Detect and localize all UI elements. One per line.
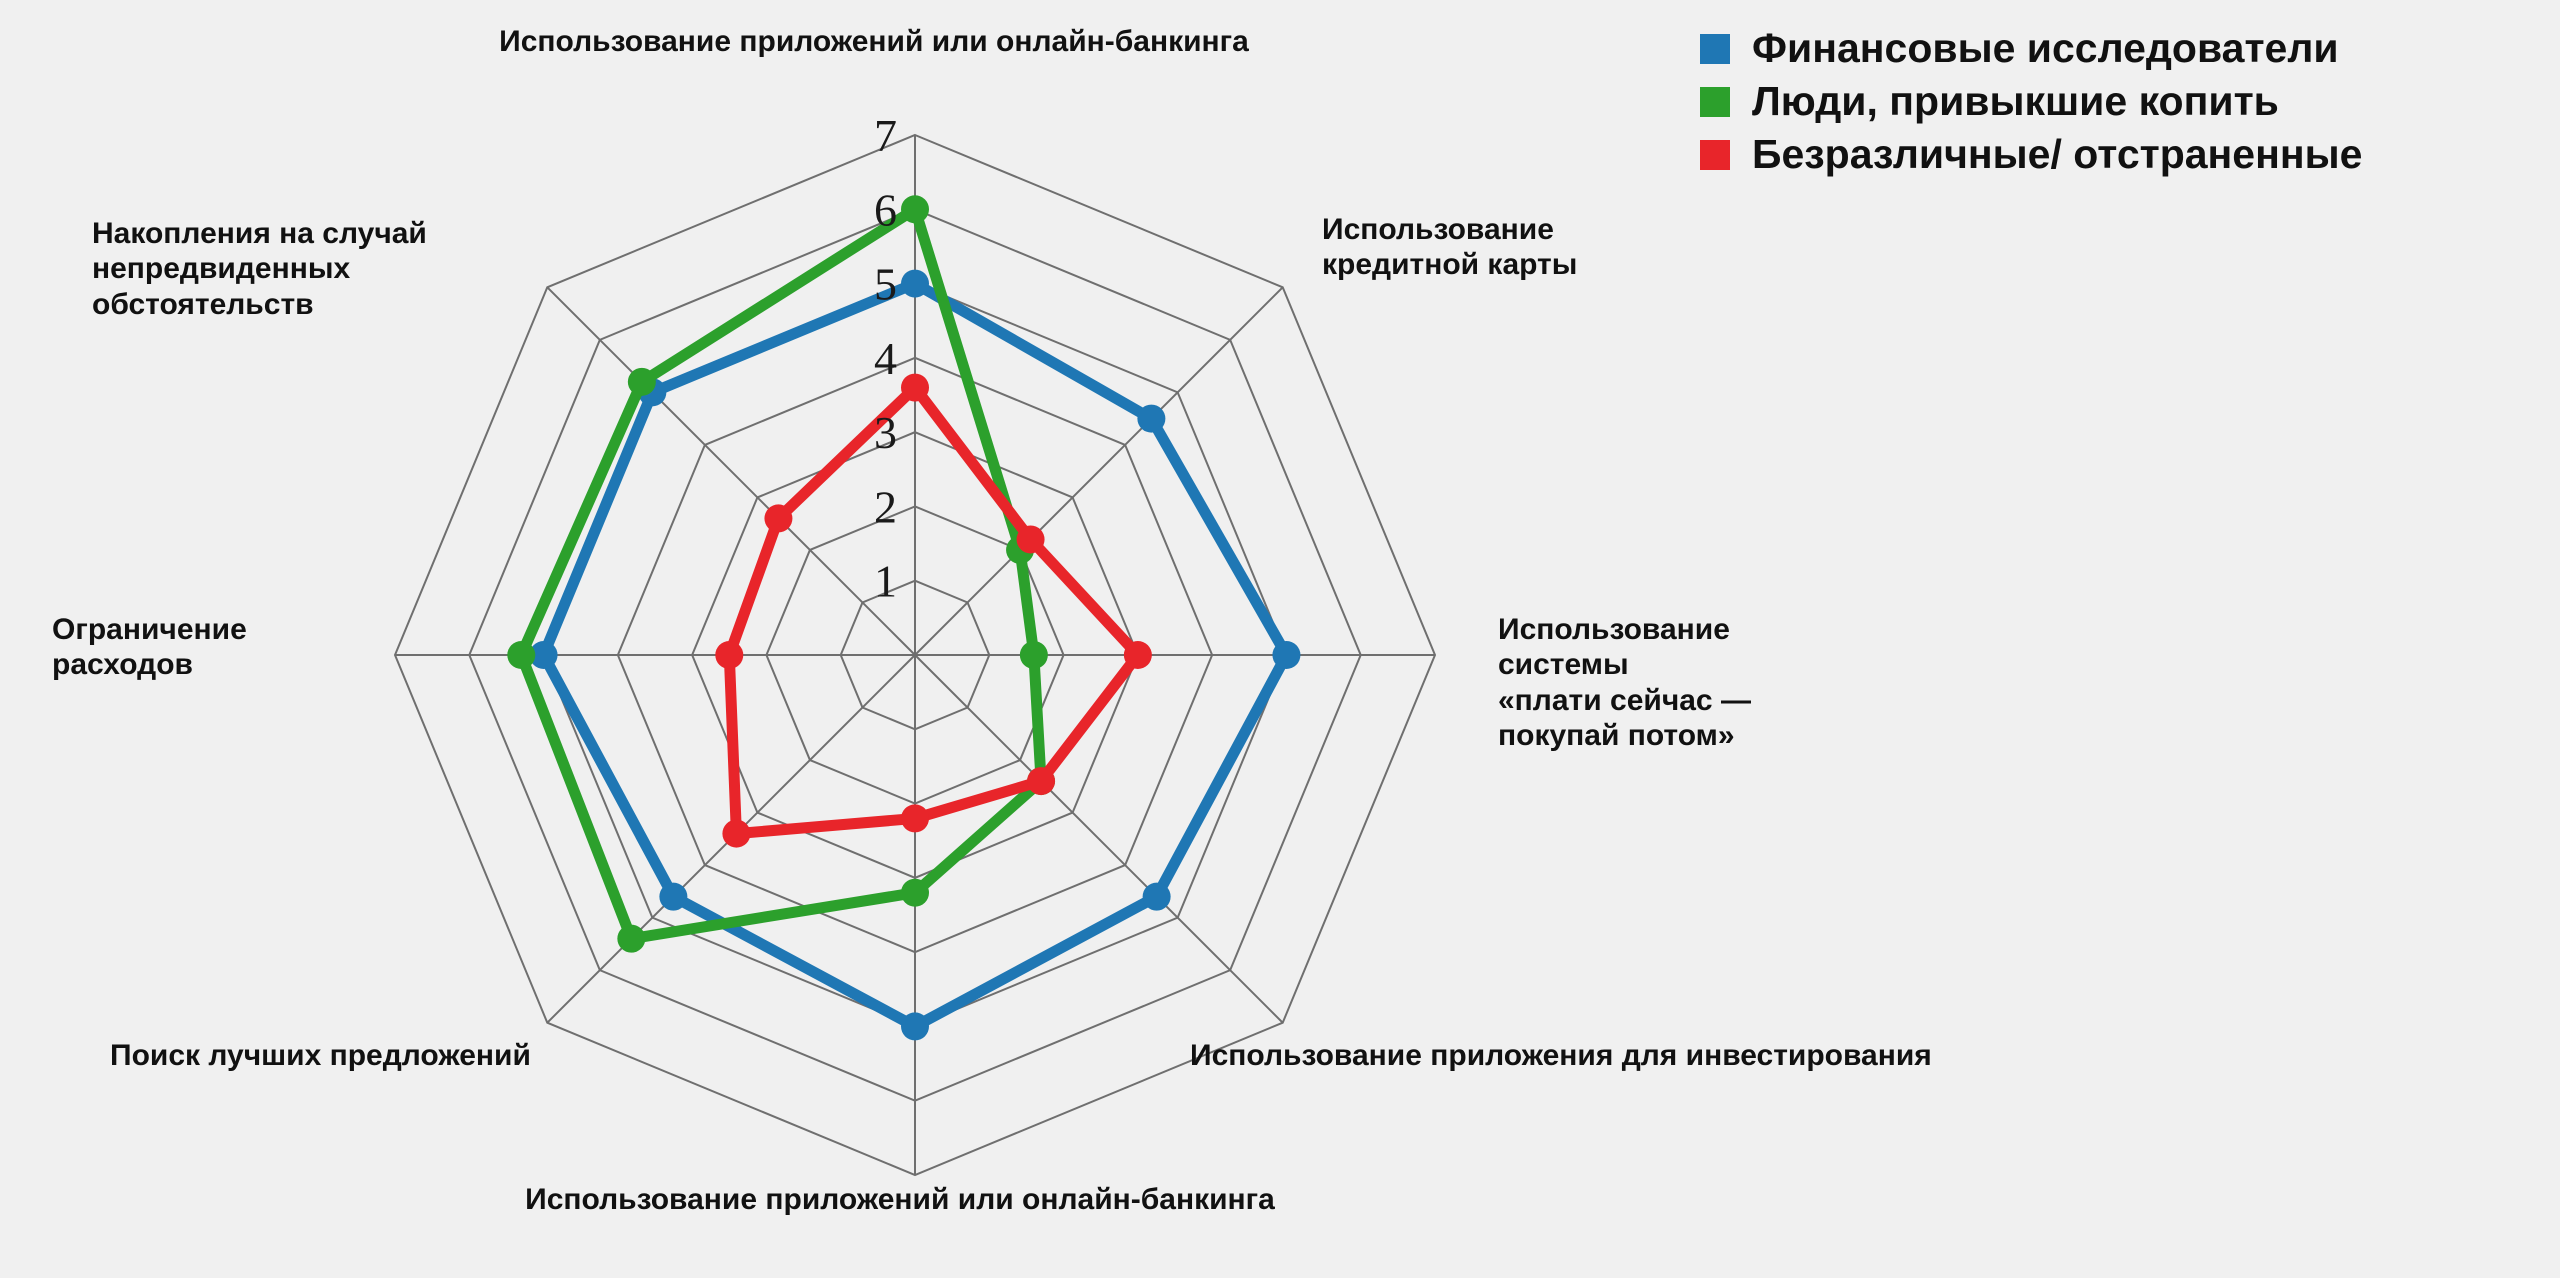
data-point-s1-c7[interactable]	[628, 368, 656, 396]
axis-label-top-right: Использованиекредитной карты	[1322, 212, 1742, 283]
chart-canvas: 1234567 Использование приложений или онл…	[0, 0, 2560, 1278]
radar-series	[507, 195, 1300, 1040]
radial-tick-labels: 1234567	[874, 110, 897, 607]
radial-tick-3: 3	[874, 407, 897, 458]
data-point-s1-c2[interactable]	[1020, 641, 1048, 669]
data-point-s2-c0[interactable]	[901, 374, 929, 402]
data-point-s2-c7[interactable]	[764, 504, 792, 532]
axis-label-bottom-left: Поиск лучших предложений	[110, 1038, 710, 1073]
legend-label-2: Безразличные/ отстраненные	[1752, 134, 2362, 175]
data-point-s2-c4[interactable]	[901, 804, 929, 832]
data-point-s0-c3[interactable]	[1143, 883, 1171, 911]
legend-swatch-red	[1700, 140, 1730, 170]
series-line-2	[729, 388, 1138, 834]
legend-item-1[interactable]: Люди, привыкшие копить	[1700, 75, 2540, 128]
radial-tick-2: 2	[874, 481, 897, 532]
radial-tick-4: 4	[874, 333, 897, 384]
data-point-s1-c5[interactable]	[617, 925, 645, 953]
data-point-s2-c1[interactable]	[1017, 525, 1045, 553]
radial-tick-6: 6	[874, 184, 897, 235]
radial-tick-7: 7	[874, 110, 897, 161]
axis-label-bottom: Использование приложений или онлайн-банк…	[200, 1182, 1600, 1217]
legend-item-2[interactable]: Безразличные/ отстраненные	[1700, 128, 2540, 181]
axis-label-top: Использование приложений или онлайн-банк…	[374, 24, 1374, 59]
data-point-s0-c0[interactable]	[901, 270, 929, 298]
data-point-s0-c1[interactable]	[1137, 405, 1165, 433]
axis-label-bottom-right: Использование приложения для инвестирова…	[1190, 1038, 2170, 1073]
radar-spoke-1	[915, 287, 1283, 655]
legend-label-0: Финансовые исследователи	[1752, 28, 2339, 69]
data-point-s0-c5[interactable]	[659, 883, 687, 911]
legend-swatch-green	[1700, 87, 1730, 117]
radial-tick-1: 1	[874, 556, 897, 607]
legend-label-1: Люди, привыкшие копить	[1752, 81, 2279, 122]
axis-label-right: Использованиесистемы«плати сейчас —покуп…	[1498, 612, 1918, 754]
data-point-s1-c0[interactable]	[901, 195, 929, 223]
data-point-s0-c4[interactable]	[901, 1012, 929, 1040]
data-point-s2-c5[interactable]	[722, 820, 750, 848]
legend-swatch-blue	[1700, 34, 1730, 64]
data-point-s2-c2[interactable]	[1124, 641, 1152, 669]
data-point-s2-c3[interactable]	[1027, 767, 1055, 795]
radar-chart: 1234567	[0, 0, 2560, 1278]
data-point-s0-c2[interactable]	[1272, 641, 1300, 669]
data-point-s1-c4[interactable]	[901, 879, 929, 907]
radial-tick-5: 5	[874, 259, 897, 310]
axis-label-top-left: Накопления на случайнепредвиденныхобстоя…	[92, 216, 522, 322]
data-point-s1-c6[interactable]	[507, 641, 535, 669]
chart-legend: Финансовые исследователи Люди, привыкшие…	[1700, 22, 2540, 181]
data-point-s2-c6[interactable]	[715, 641, 743, 669]
axis-label-left: Ограничениерасходов	[52, 612, 382, 683]
legend-item-0[interactable]: Финансовые исследователи	[1700, 22, 2540, 75]
